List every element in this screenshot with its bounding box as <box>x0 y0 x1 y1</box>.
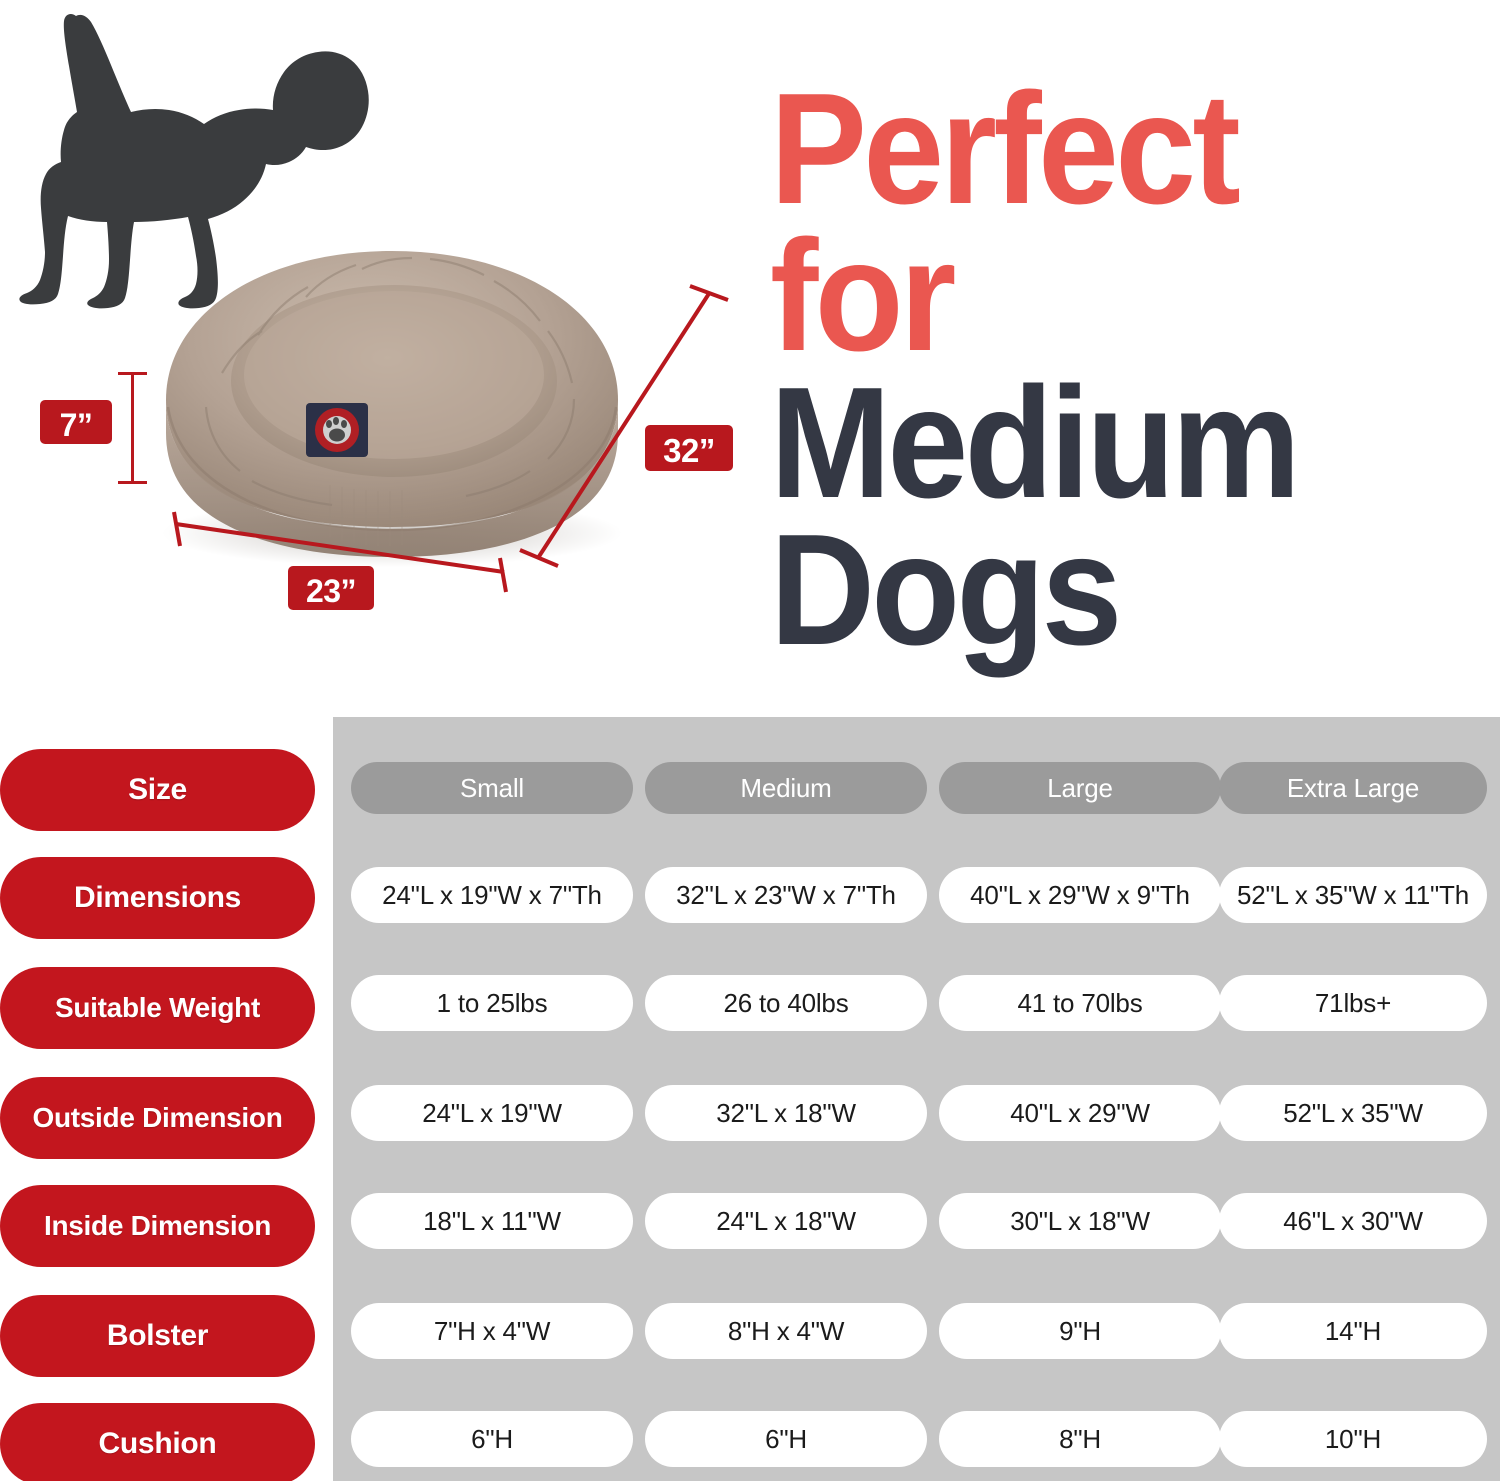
column-header-large: Large <box>939 762 1221 814</box>
cell-dimensions-extra-large: 52"L x 35"W x 11"Th <box>1219 867 1487 923</box>
cell-suitable-weight-small: 1 to 25lbs <box>351 975 633 1031</box>
size-chart-cells: SmallMediumLargeExtra Large24"L x 19"W x… <box>333 717 1500 1481</box>
cell-bolster-medium: 8"H x 4"W <box>645 1303 927 1359</box>
page-title: Perfect for Medium Dogs <box>770 76 1432 664</box>
headline-line-3: Dogs <box>770 517 1432 664</box>
cell-cushion-extra-large: 10"H <box>1219 1411 1487 1467</box>
length-dimension-label: 32” <box>645 425 733 471</box>
row-label-size: Size <box>0 749 315 831</box>
cell-cushion-large: 8"H <box>939 1411 1221 1467</box>
row-label-bolster: Bolster <box>0 1295 315 1377</box>
brand-tag <box>306 403 368 457</box>
column-header-medium: Medium <box>645 762 927 814</box>
cell-dimensions-small: 24"L x 19"W x 7"Th <box>351 867 633 923</box>
cell-suitable-weight-extra-large: 71lbs+ <box>1219 975 1487 1031</box>
cell-cushion-medium: 6"H <box>645 1411 927 1467</box>
cell-outside-dimension-large: 40"L x 29"W <box>939 1085 1221 1141</box>
cell-inside-dimension-extra-large: 46"L x 30"W <box>1219 1193 1487 1249</box>
height-rule <box>131 372 134 484</box>
cell-dimensions-large: 40"L x 29"W x 9"Th <box>939 867 1221 923</box>
cell-outside-dimension-extra-large: 52"L x 35"W <box>1219 1085 1487 1141</box>
row-label-suitable-weight: Suitable Weight <box>0 967 315 1049</box>
cell-suitable-weight-large: 41 to 70lbs <box>939 975 1221 1031</box>
size-chart-row-labels: SizeDimensionsSuitable WeightOutside Dim… <box>0 717 318 1481</box>
cell-bolster-small: 7"H x 4"W <box>351 1303 633 1359</box>
dog-bed-product-image <box>130 185 650 575</box>
cell-inside-dimension-large: 30"L x 18"W <box>939 1193 1221 1249</box>
product-infographic: 7” 32” 23” Perfect for Medium Dogs SizeD… <box>0 0 1500 1481</box>
size-chart: SizeDimensionsSuitable WeightOutside Dim… <box>0 700 1500 1481</box>
cell-outside-dimension-medium: 32"L x 18"W <box>645 1085 927 1141</box>
width-dimension-label: 23” <box>288 566 374 610</box>
cell-inside-dimension-medium: 24"L x 18"W <box>645 1193 927 1249</box>
height-rule-cap-bottom <box>118 481 147 484</box>
cell-inside-dimension-small: 18"L x 11"W <box>351 1193 633 1249</box>
height-rule-cap-top <box>118 372 147 375</box>
row-label-cushion: Cushion <box>0 1403 315 1481</box>
row-label-outside-dimension: Outside Dimension <box>0 1077 315 1159</box>
column-header-small: Small <box>351 762 633 814</box>
cell-suitable-weight-medium: 26 to 40lbs <box>645 975 927 1031</box>
cell-dimensions-medium: 32"L x 23"W x 7"Th <box>645 867 927 923</box>
cell-cushion-small: 6"H <box>351 1411 633 1467</box>
hero-section: 7” 32” 23” Perfect for Medium Dogs <box>0 0 1500 700</box>
headline-line-2: Medium <box>770 370 1432 517</box>
column-header-extra-large: Extra Large <box>1219 762 1487 814</box>
row-label-inside-dimension: Inside Dimension <box>0 1185 315 1267</box>
row-label-dimensions: Dimensions <box>0 857 315 939</box>
height-dimension-label: 7” <box>40 400 112 444</box>
headline-line-1: Perfect for <box>770 76 1432 370</box>
cell-outside-dimension-small: 24"L x 19"W <box>351 1085 633 1141</box>
cell-bolster-large: 9"H <box>939 1303 1221 1359</box>
cell-bolster-extra-large: 14"H <box>1219 1303 1487 1359</box>
